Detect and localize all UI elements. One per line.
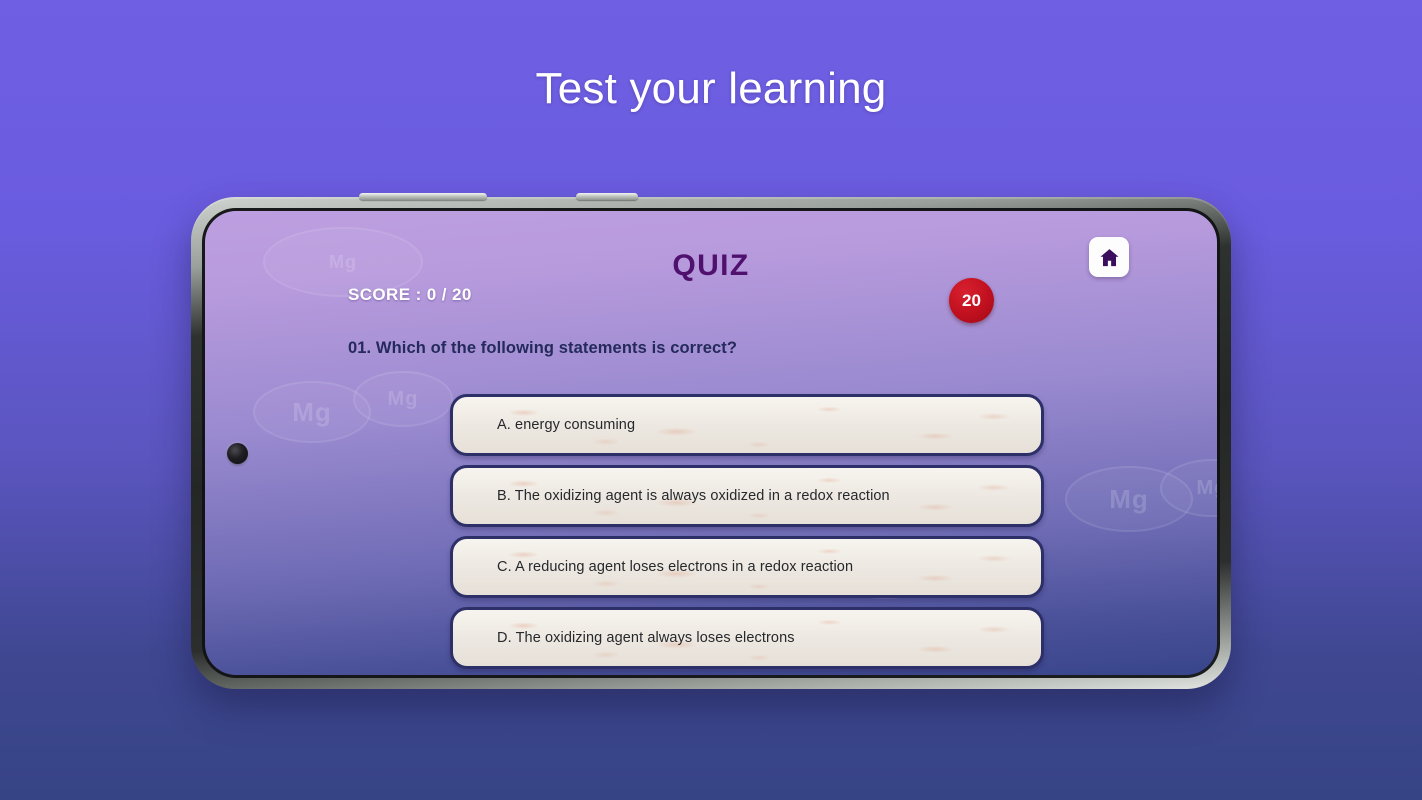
score-label: SCORE : 0 / 20 [348, 285, 472, 305]
timer-value: 20 [962, 291, 981, 311]
answer-option-label: B. The oxidizing agent is always oxidize… [453, 488, 890, 504]
answer-option-label: A. energy consuming [453, 417, 635, 433]
timer-badge: 20 [949, 278, 994, 323]
quiz-title: QUIZ [205, 249, 1217, 283]
quiz-app-screen: QUIZ SCORE : 0 / 20 20 01. Which of the … [205, 211, 1217, 675]
answer-option-label: C. A reducing agent loses electrons in a… [453, 559, 853, 575]
phone-bezel: Mg Mg Mg Mg Mg Mg QUIZ SCORE : 0 / 20 20 [202, 208, 1220, 678]
answer-option-b[interactable]: B. The oxidizing agent is always oxidize… [450, 465, 1044, 527]
answer-options-list: A. energy consuming B. The oxidizing age… [450, 394, 1044, 675]
answer-option-label: D. The oxidizing agent always loses elec… [453, 630, 795, 646]
phone-device-frame: Mg Mg Mg Mg Mg Mg QUIZ SCORE : 0 / 20 20 [191, 197, 1231, 689]
answer-option-c[interactable]: C. A reducing agent loses electrons in a… [450, 536, 1044, 598]
power-button[interactable] [576, 193, 638, 200]
home-icon [1098, 246, 1121, 269]
answer-option-d[interactable]: D. The oxidizing agent always loses elec… [450, 607, 1044, 669]
question-text: 01. Which of the following statements is… [348, 339, 1088, 358]
answer-option-a[interactable]: A. energy consuming [450, 394, 1044, 456]
home-button[interactable] [1089, 237, 1129, 277]
promo-title: Test your learning [0, 64, 1422, 114]
phone-screen: Mg Mg Mg Mg Mg Mg QUIZ SCORE : 0 / 20 20 [205, 211, 1217, 675]
volume-button[interactable] [359, 193, 487, 200]
promo-background: Test your learning Mg Mg Mg Mg Mg Mg QUI… [0, 0, 1422, 800]
